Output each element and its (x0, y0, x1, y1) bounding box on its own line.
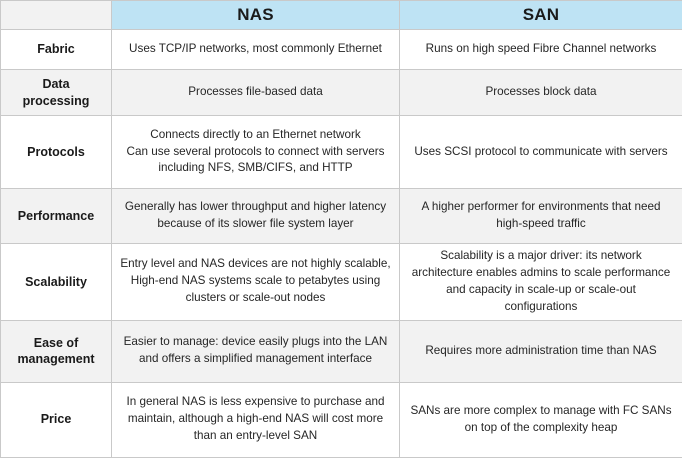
row-label-performance: Performance (1, 189, 112, 244)
cell-scalability-san: Scalability is a major driver: its netwo… (400, 244, 682, 321)
row-label-ease-of-management: Ease of management (1, 320, 112, 382)
cell-protocols-san: Uses SCSI protocol to communicate with s… (400, 116, 682, 189)
table-row: Scalability Entry level and NAS devices … (1, 244, 682, 321)
table-header: NAS SAN (1, 1, 682, 30)
row-label-price: Price (1, 382, 112, 457)
cell-data-processing-san: Processes block data (400, 70, 682, 116)
cell-fabric-san: Runs on high speed Fibre Channel network… (400, 30, 682, 70)
table-row: Price In general NAS is less expensive t… (1, 382, 682, 457)
row-label-fabric: Fabric (1, 30, 112, 70)
cell-price-nas: In general NAS is less expensive to purc… (112, 382, 400, 457)
cell-fabric-nas: Uses TCP/IP networks, most commonly Ethe… (112, 30, 400, 70)
table-row: Protocols Connects directly to an Ethern… (1, 116, 682, 189)
table-body: Fabric Uses TCP/IP networks, most common… (1, 30, 682, 458)
column-header-nas: NAS (112, 1, 400, 30)
cell-ease-of-management-san: Requires more administration time than N… (400, 320, 682, 382)
row-label-scalability: Scalability (1, 244, 112, 321)
table-row: Fabric Uses TCP/IP networks, most common… (1, 30, 682, 70)
cell-protocols-nas: Connects directly to an Ethernet network… (112, 116, 400, 189)
cell-price-san: SANs are more complex to manage with FC … (400, 382, 682, 457)
cell-data-processing-nas: Processes file-based data (112, 70, 400, 116)
header-blank-cell (1, 1, 112, 30)
cell-ease-of-management-nas: Easier to manage: device easily plugs in… (112, 320, 400, 382)
cell-scalability-nas: Entry level and NAS devices are not high… (112, 244, 400, 321)
nas-san-comparison-table: NAS SAN Fabric Uses TCP/IP networks, mos… (0, 0, 682, 458)
row-label-data-processing: Data processing (1, 70, 112, 116)
cell-performance-nas: Generally has lower throughput and highe… (112, 189, 400, 244)
cell-performance-san: A higher performer for environments that… (400, 189, 682, 244)
row-label-protocols: Protocols (1, 116, 112, 189)
table-row: Data processing Processes file-based dat… (1, 70, 682, 116)
table-row: Performance Generally has lower throughp… (1, 189, 682, 244)
table-row: Ease of management Easier to manage: dev… (1, 320, 682, 382)
column-header-san: SAN (400, 1, 682, 30)
header-row: NAS SAN (1, 1, 682, 30)
